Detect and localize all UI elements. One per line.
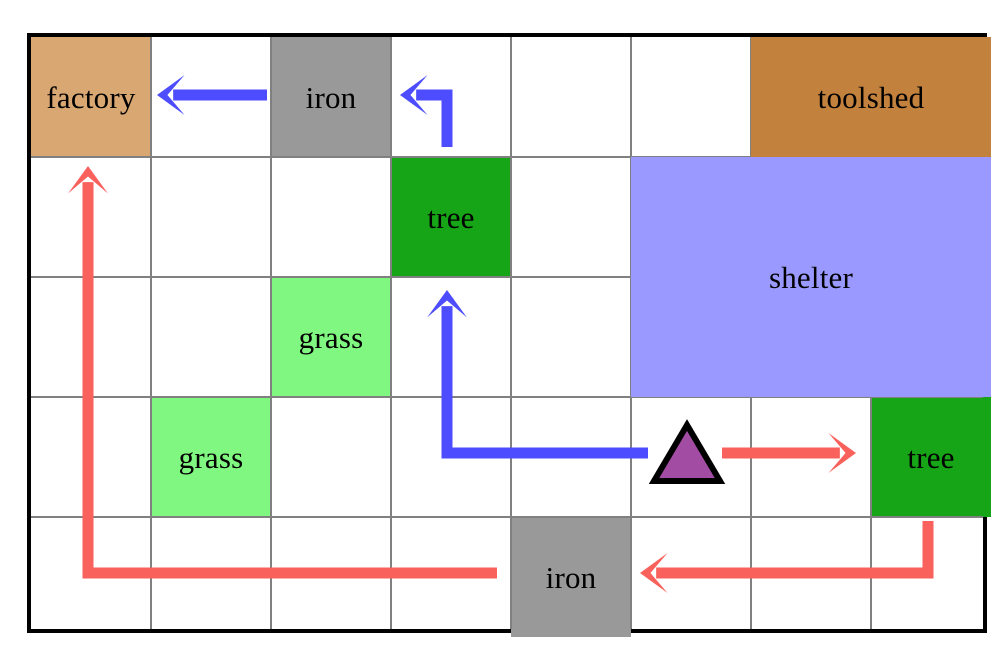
gridline-vertical <box>510 37 512 629</box>
cell-grass-lower[interactable] <box>151 397 271 517</box>
grid: factoryirontoolshedtreesheltergrassgrass… <box>31 37 983 629</box>
gridline-horizontal <box>31 516 983 518</box>
cell-tree-top[interactable] <box>391 157 511 277</box>
gridline-vertical <box>150 37 152 629</box>
region-toolshed[interactable] <box>751 37 991 157</box>
cell-grass-upper[interactable] <box>271 277 391 397</box>
gridworld-scene: factoryirontoolshedtreesheltergrassgrass… <box>0 0 1008 662</box>
grid-container: factoryirontoolshedtreesheltergrassgrass… <box>27 33 987 633</box>
cell-iron-bottom[interactable] <box>511 517 631 637</box>
cell-tree-right[interactable] <box>871 397 991 517</box>
gridline-vertical <box>270 37 272 629</box>
region-shelter[interactable] <box>631 157 991 397</box>
gridline-vertical <box>390 37 392 629</box>
cell-factory[interactable] <box>31 37 151 157</box>
cell-iron-top[interactable] <box>271 37 391 157</box>
